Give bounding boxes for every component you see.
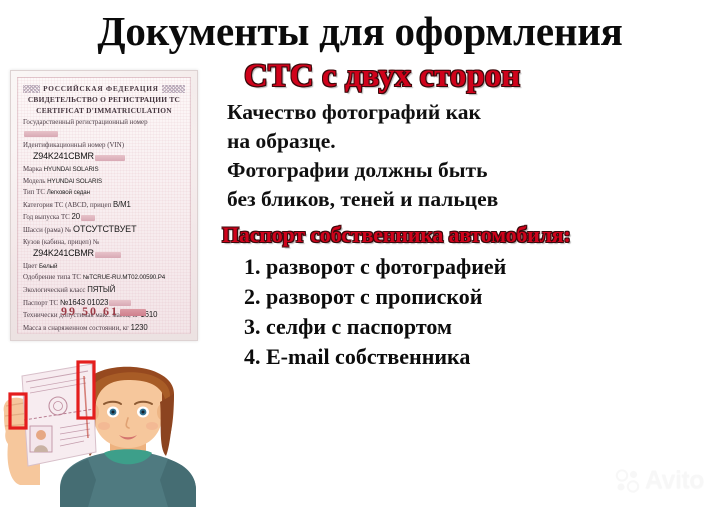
- photo-quality-instructions: Качество фотографий как на образце. Фото…: [222, 98, 720, 214]
- sts-field-value: HYUNDAI SOLARIS: [44, 166, 99, 173]
- sts-field-row: Z94K241CBMR: [23, 249, 185, 259]
- sts-field-row: Масса в снаряженном состоянии, кг 1230: [23, 323, 185, 333]
- list-item: 4. E-mail собственника: [244, 342, 720, 372]
- passport-requirements-list: 1. разворот с фотографией 2. разворот с …: [222, 252, 720, 372]
- avito-logo-icon: [615, 469, 641, 493]
- sts-field-row: Одобрение типа ТС №TCRUE-RU.MT02.00590.P…: [23, 273, 185, 282]
- sts-title-fr: CERTIFICAT D'IMMATRICULATION: [23, 106, 185, 115]
- sts-field-row: Марка HYUNDAI SOLARIS: [23, 165, 185, 174]
- list-item: 2. разворот с пропиской: [244, 282, 720, 312]
- guilloche-pattern-icon: [162, 85, 185, 93]
- sts-field-label: Государственный регистрационный номер: [23, 119, 148, 126]
- sts-field-row: Цвет Белый: [23, 262, 185, 271]
- sts-field-label: Шасси (рама) №: [23, 227, 71, 234]
- held-passport-document: [22, 364, 96, 466]
- sts-field-value: B/M1: [113, 200, 131, 209]
- instruction-line: на образце.: [227, 127, 720, 156]
- redaction-bar: [95, 155, 125, 161]
- sts-field-value: ОТСУТСТВУЕТ: [73, 224, 136, 234]
- sts-field-value: Легковой седан: [47, 189, 90, 196]
- sts-document-photo: РОССИЙСКАЯ ФЕДЕРАЦИЯ СВИДЕТЕЛЬСТВО О РЕГ…: [10, 70, 198, 341]
- sts-field-row: Тип ТС Легковой седан: [23, 188, 185, 197]
- sts-field-label: Цвет: [23, 263, 37, 270]
- sts-field-label: Одобрение типа ТС: [23, 274, 81, 281]
- avito-wordmark: Avito: [645, 468, 704, 493]
- heading-sts-both-sides: СТС с двух сторон: [244, 58, 720, 94]
- sts-field-label: Экологический класс: [23, 287, 85, 294]
- sts-field-row: Категория ТС (ABCD, прицеп B/M1: [23, 200, 185, 210]
- sts-field-value: Белый: [39, 263, 57, 270]
- avito-watermark: Avito: [615, 468, 704, 493]
- pupil-right: [142, 411, 145, 414]
- sts-serial-number: 99 50 61: [18, 304, 190, 319]
- sts-field-label: Кузов (кабина, прицеп) №: [23, 239, 99, 246]
- sts-vin-value: Z94K241CBMR: [33, 151, 94, 161]
- sts-document-face: РОССИЙСКАЯ ФЕДЕРАЦИЯ СВИДЕТЕЛЬСТВО О РЕГ…: [17, 77, 191, 334]
- sts-field-label: Категория ТС (ABCD, прицеп: [23, 202, 111, 209]
- redaction-bar: [24, 131, 58, 137]
- sts-serial-value: 99 50 61: [61, 304, 119, 318]
- sts-field-row: Экологический класс ПЯТЫЙ: [23, 285, 185, 295]
- sts-field-redacted: [23, 129, 185, 138]
- cheek-left: [98, 422, 110, 430]
- sts-field-value: №TCRUE-RU.MT02.00590.P4: [83, 274, 165, 281]
- promo-image-root: Документы для оформления РОССИЙСКАЯ ФЕДЕ…: [0, 0, 720, 507]
- sts-title-ru: СВИДЕТЕЛЬСТВО О РЕГИСТРАЦИИ ТС: [23, 95, 185, 104]
- sts-field-value: HYUNDAI SOLARIS: [47, 178, 102, 185]
- passport-photo-head: [36, 430, 46, 440]
- instruction-line: Качество фотографий как: [227, 98, 720, 127]
- woman-holding-passport-illustration: [0, 340, 236, 507]
- sts-field-value: ПЯТЫЙ: [87, 285, 115, 294]
- sts-field-row: Год выпуска ТС 20: [23, 212, 185, 222]
- sts-body-number-value: Z94K241CBMR: [33, 248, 94, 258]
- sts-field-row: Идентификационный номер (VIN): [23, 141, 185, 150]
- sts-field-label: Марка: [23, 166, 42, 173]
- instruction-line: без бликов, теней и пальцев: [227, 185, 720, 214]
- sts-field-row: Шасси (рама) № ОТСУТСТВУЕТ: [23, 225, 185, 235]
- sts-field-label: Модель: [23, 178, 45, 185]
- redaction-bar: [120, 309, 146, 316]
- heading-owner-passport: Паспорт собственника автомобиля:: [222, 220, 720, 250]
- sts-field-row: Кузов (кабина, прицеп) №: [23, 238, 185, 247]
- sts-field-row: Z94K241CBMR: [23, 152, 185, 162]
- list-item: 3. селфи с паспортом: [244, 312, 720, 342]
- sts-federation-label: РОССИЙСКАЯ ФЕДЕРАЦИЯ: [43, 84, 158, 93]
- guilloche-pattern-icon: [23, 85, 40, 93]
- sts-field-value: 20: [72, 212, 80, 221]
- cheek-right: [146, 422, 158, 430]
- sts-field-label: Тип ТС: [23, 189, 45, 196]
- instructions-column: СТС с двух сторон Качество фотографий ка…: [222, 58, 720, 372]
- sts-field-label: Идентификационный номер (VIN): [23, 142, 124, 149]
- page-title: Документы для оформления: [0, 8, 720, 54]
- redaction-bar: [81, 215, 95, 221]
- instruction-line: Фотографии должны быть: [227, 156, 720, 185]
- sts-field-value: 1230: [131, 323, 148, 332]
- sts-field-row: Государственный регистрационный номер: [23, 118, 185, 127]
- pupil-left: [112, 411, 115, 414]
- sts-field-row: Модель HYUNDAI SOLARIS: [23, 177, 185, 186]
- list-item: 1. разворот с фотографией: [244, 252, 720, 282]
- sts-field-label: Год выпуска ТС: [23, 214, 70, 221]
- redaction-bar: [95, 252, 121, 258]
- sts-field-label: Масса в снаряженном состоянии, кг: [23, 325, 129, 332]
- sts-federation-row: РОССИЙСКАЯ ФЕДЕРАЦИЯ: [23, 84, 185, 93]
